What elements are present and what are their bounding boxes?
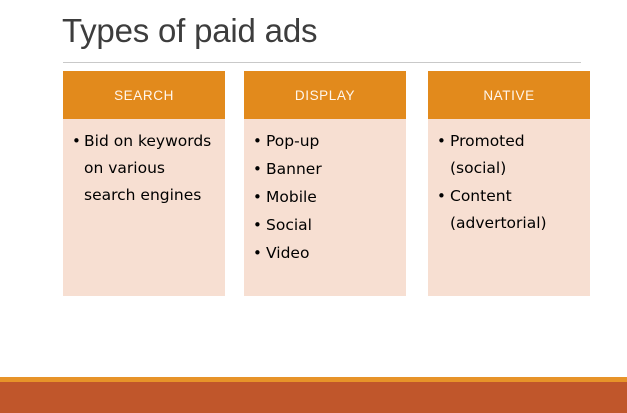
- column-header-native: NATIVE: [428, 71, 590, 119]
- list-item: Mobile: [252, 184, 400, 211]
- page-title: Types of paid ads: [62, 9, 582, 53]
- slide-canvas: Types of paid ads SEARCH Bid on keywords…: [0, 0, 627, 413]
- column-display: DISPLAY Pop-up Banner Mobile Social Vide…: [244, 71, 406, 296]
- footer-band: [0, 382, 627, 413]
- title-divider: [63, 62, 581, 63]
- bullet-list-display: Pop-up Banner Mobile Social Video: [252, 128, 400, 267]
- column-body-search: Bid on keywords on various search engine…: [63, 119, 225, 296]
- list-item: Social: [252, 212, 400, 239]
- column-body-display: Pop-up Banner Mobile Social Video: [244, 119, 406, 296]
- column-header-search: SEARCH: [63, 71, 225, 119]
- column-native: NATIVE Promoted (social) Content (advert…: [428, 71, 590, 296]
- column-header-display: DISPLAY: [244, 71, 406, 119]
- column-search: SEARCH Bid on keywords on various search…: [63, 71, 225, 296]
- list-item: Pop-up: [252, 128, 400, 155]
- bullet-list-search: Bid on keywords on various search engine…: [71, 128, 219, 209]
- list-item: Content (advertorial): [436, 183, 584, 237]
- bullet-list-native: Promoted (social) Content (advertorial): [436, 128, 584, 237]
- list-item: Video: [252, 240, 400, 267]
- column-body-native: Promoted (social) Content (advertorial): [428, 119, 590, 296]
- list-item: Bid on keywords on various search engine…: [71, 128, 219, 209]
- columns-container: SEARCH Bid on keywords on various search…: [63, 71, 585, 296]
- list-item: Banner: [252, 156, 400, 183]
- list-item: Promoted (social): [436, 128, 584, 182]
